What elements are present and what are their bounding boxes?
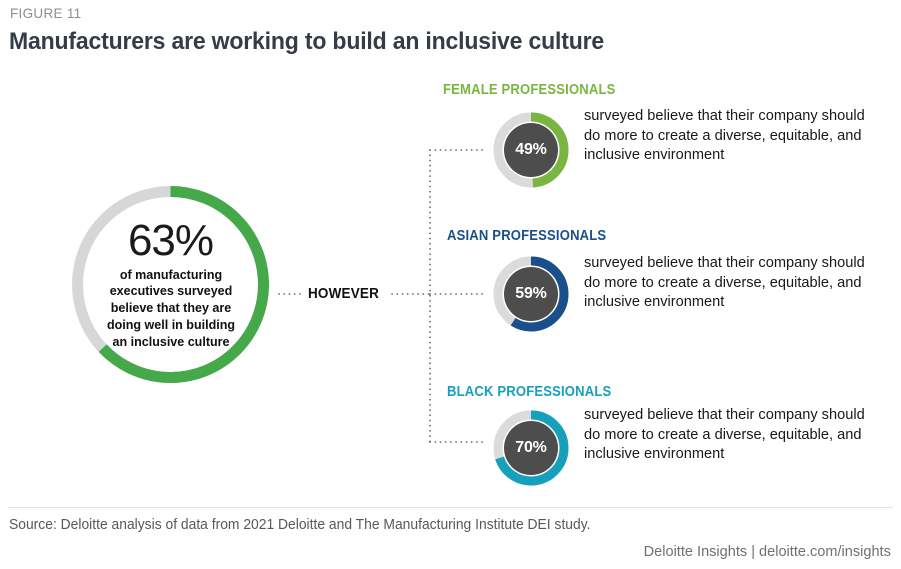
- branch-body-black: surveyed believe that their company shou…: [584, 406, 874, 465]
- donut-female-percent: 49%: [491, 110, 571, 190]
- donut-asian-percent: 59%: [491, 254, 571, 334]
- brand-credit: Deloitte Insights | deloitte.com/insight…: [644, 543, 891, 560]
- main-donut-chart: 63% of manufacturing executives surveyed…: [68, 182, 273, 387]
- main-donut-percent: 63%: [128, 219, 213, 263]
- branch-body-female: surveyed believe that their company shou…: [584, 107, 874, 166]
- branch-heading-black: BLACK PROFESSIONALS: [447, 384, 611, 400]
- branch-heading-female: FEMALE PROFESSIONALS: [443, 82, 616, 98]
- source-note: Source: Deloitte analysis of data from 2…: [9, 517, 590, 533]
- branch-heading-asian: ASIAN PROFESSIONALS: [447, 228, 606, 244]
- however-label: HOWEVER: [308, 285, 379, 302]
- figure-label: FIGURE 11: [10, 6, 81, 21]
- donut-asian: 59%: [491, 254, 571, 334]
- main-donut-description: of manufacturing executives surveyed bel…: [98, 267, 242, 351]
- page-title: Manufacturers are working to build an in…: [9, 28, 604, 56]
- donut-female: 49%: [491, 110, 571, 190]
- donut-black: 70%: [491, 408, 571, 488]
- branch-body-asian: surveyed believe that their company shou…: [584, 254, 874, 313]
- footer-divider: [8, 507, 893, 508]
- donut-black-percent: 70%: [491, 408, 571, 488]
